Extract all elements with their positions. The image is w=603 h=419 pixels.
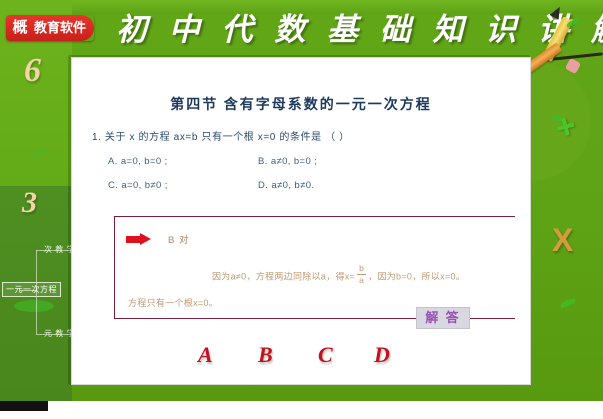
decor-number-three: 3 <box>22 186 37 220</box>
choice-button-b[interactable]: B <box>258 342 273 368</box>
content-panel: 第四节 含有字母系数的一元一次方程 1. 关于 x 的方程 ax=b 只有一个根… <box>71 57 531 385</box>
window-bottom-black-strip <box>0 401 48 411</box>
page-title: 初 中 代 数 基 础 知 识 讲 解 <box>116 6 516 54</box>
choice-button-d[interactable]: D <box>374 342 390 368</box>
choice-button-row: A B C D <box>72 342 530 382</box>
fraction-b-over-a: ba <box>357 264 366 284</box>
arrow-head <box>140 233 151 245</box>
decor-number-six: 6 <box>24 52 41 90</box>
option-c[interactable]: C. a=0, b≠0 ; <box>108 180 168 191</box>
choice-button-c[interactable]: C <box>318 342 333 368</box>
explanation-line-1: 因为a≠0，方程两边同除以a，得x=ba，因为b=0，所以x=0。 <box>212 264 465 284</box>
application-window: 概 教育软件 初 中 代 数 基 础 知 识 讲 解 6 3 + X 次 教 学… <box>0 0 603 419</box>
solve-button[interactable]: 解 答 <box>416 307 470 329</box>
brand-logo: 概 教育软件 <box>6 15 94 41</box>
sidebar-lesson-tree[interactable]: 次 教 学 一元一次方程 元 教 学 <box>0 238 74 356</box>
right-arrow-icon <box>126 233 152 245</box>
choice-button-a[interactable]: A <box>198 342 213 368</box>
pencil-icon <box>534 12 596 84</box>
lesson-title: 第四节 含有字母系数的一元一次方程 <box>72 94 530 114</box>
explanation-tail-text: ，因为b=0，所以x=0。 <box>368 272 465 282</box>
sidebar-item-linear-equation[interactable]: 一元一次方程 <box>2 282 61 297</box>
window-bottom-bar <box>0 401 603 419</box>
fraction-numerator: b <box>357 264 366 273</box>
correct-answer-label: B 对 <box>168 232 189 246</box>
option-b[interactable]: B. a≠0, b=0 ; <box>258 156 317 167</box>
explanation-line-2: 方程只有一个根x=0。 <box>128 296 218 309</box>
pencil-eraser-icon <box>565 58 581 74</box>
explanation-lead-text: 因为a≠0，方程两边同除以a，得x= <box>212 272 355 282</box>
option-d[interactable]: D. a≠0, b≠0. <box>258 180 314 191</box>
times-sign-icon: X <box>552 222 573 259</box>
brand-mark-icon: 概 <box>6 15 32 41</box>
question-text: 1. 关于 x 的方程 ax=b 只有一个根 x=0 的条件是 （ ） <box>92 128 350 143</box>
arrow-shaft <box>126 236 141 243</box>
fraction-denominator: a <box>357 276 366 285</box>
option-a[interactable]: A. a=0, b=0 ; <box>108 156 168 167</box>
brand-logo-text: 教育软件 <box>32 15 94 41</box>
